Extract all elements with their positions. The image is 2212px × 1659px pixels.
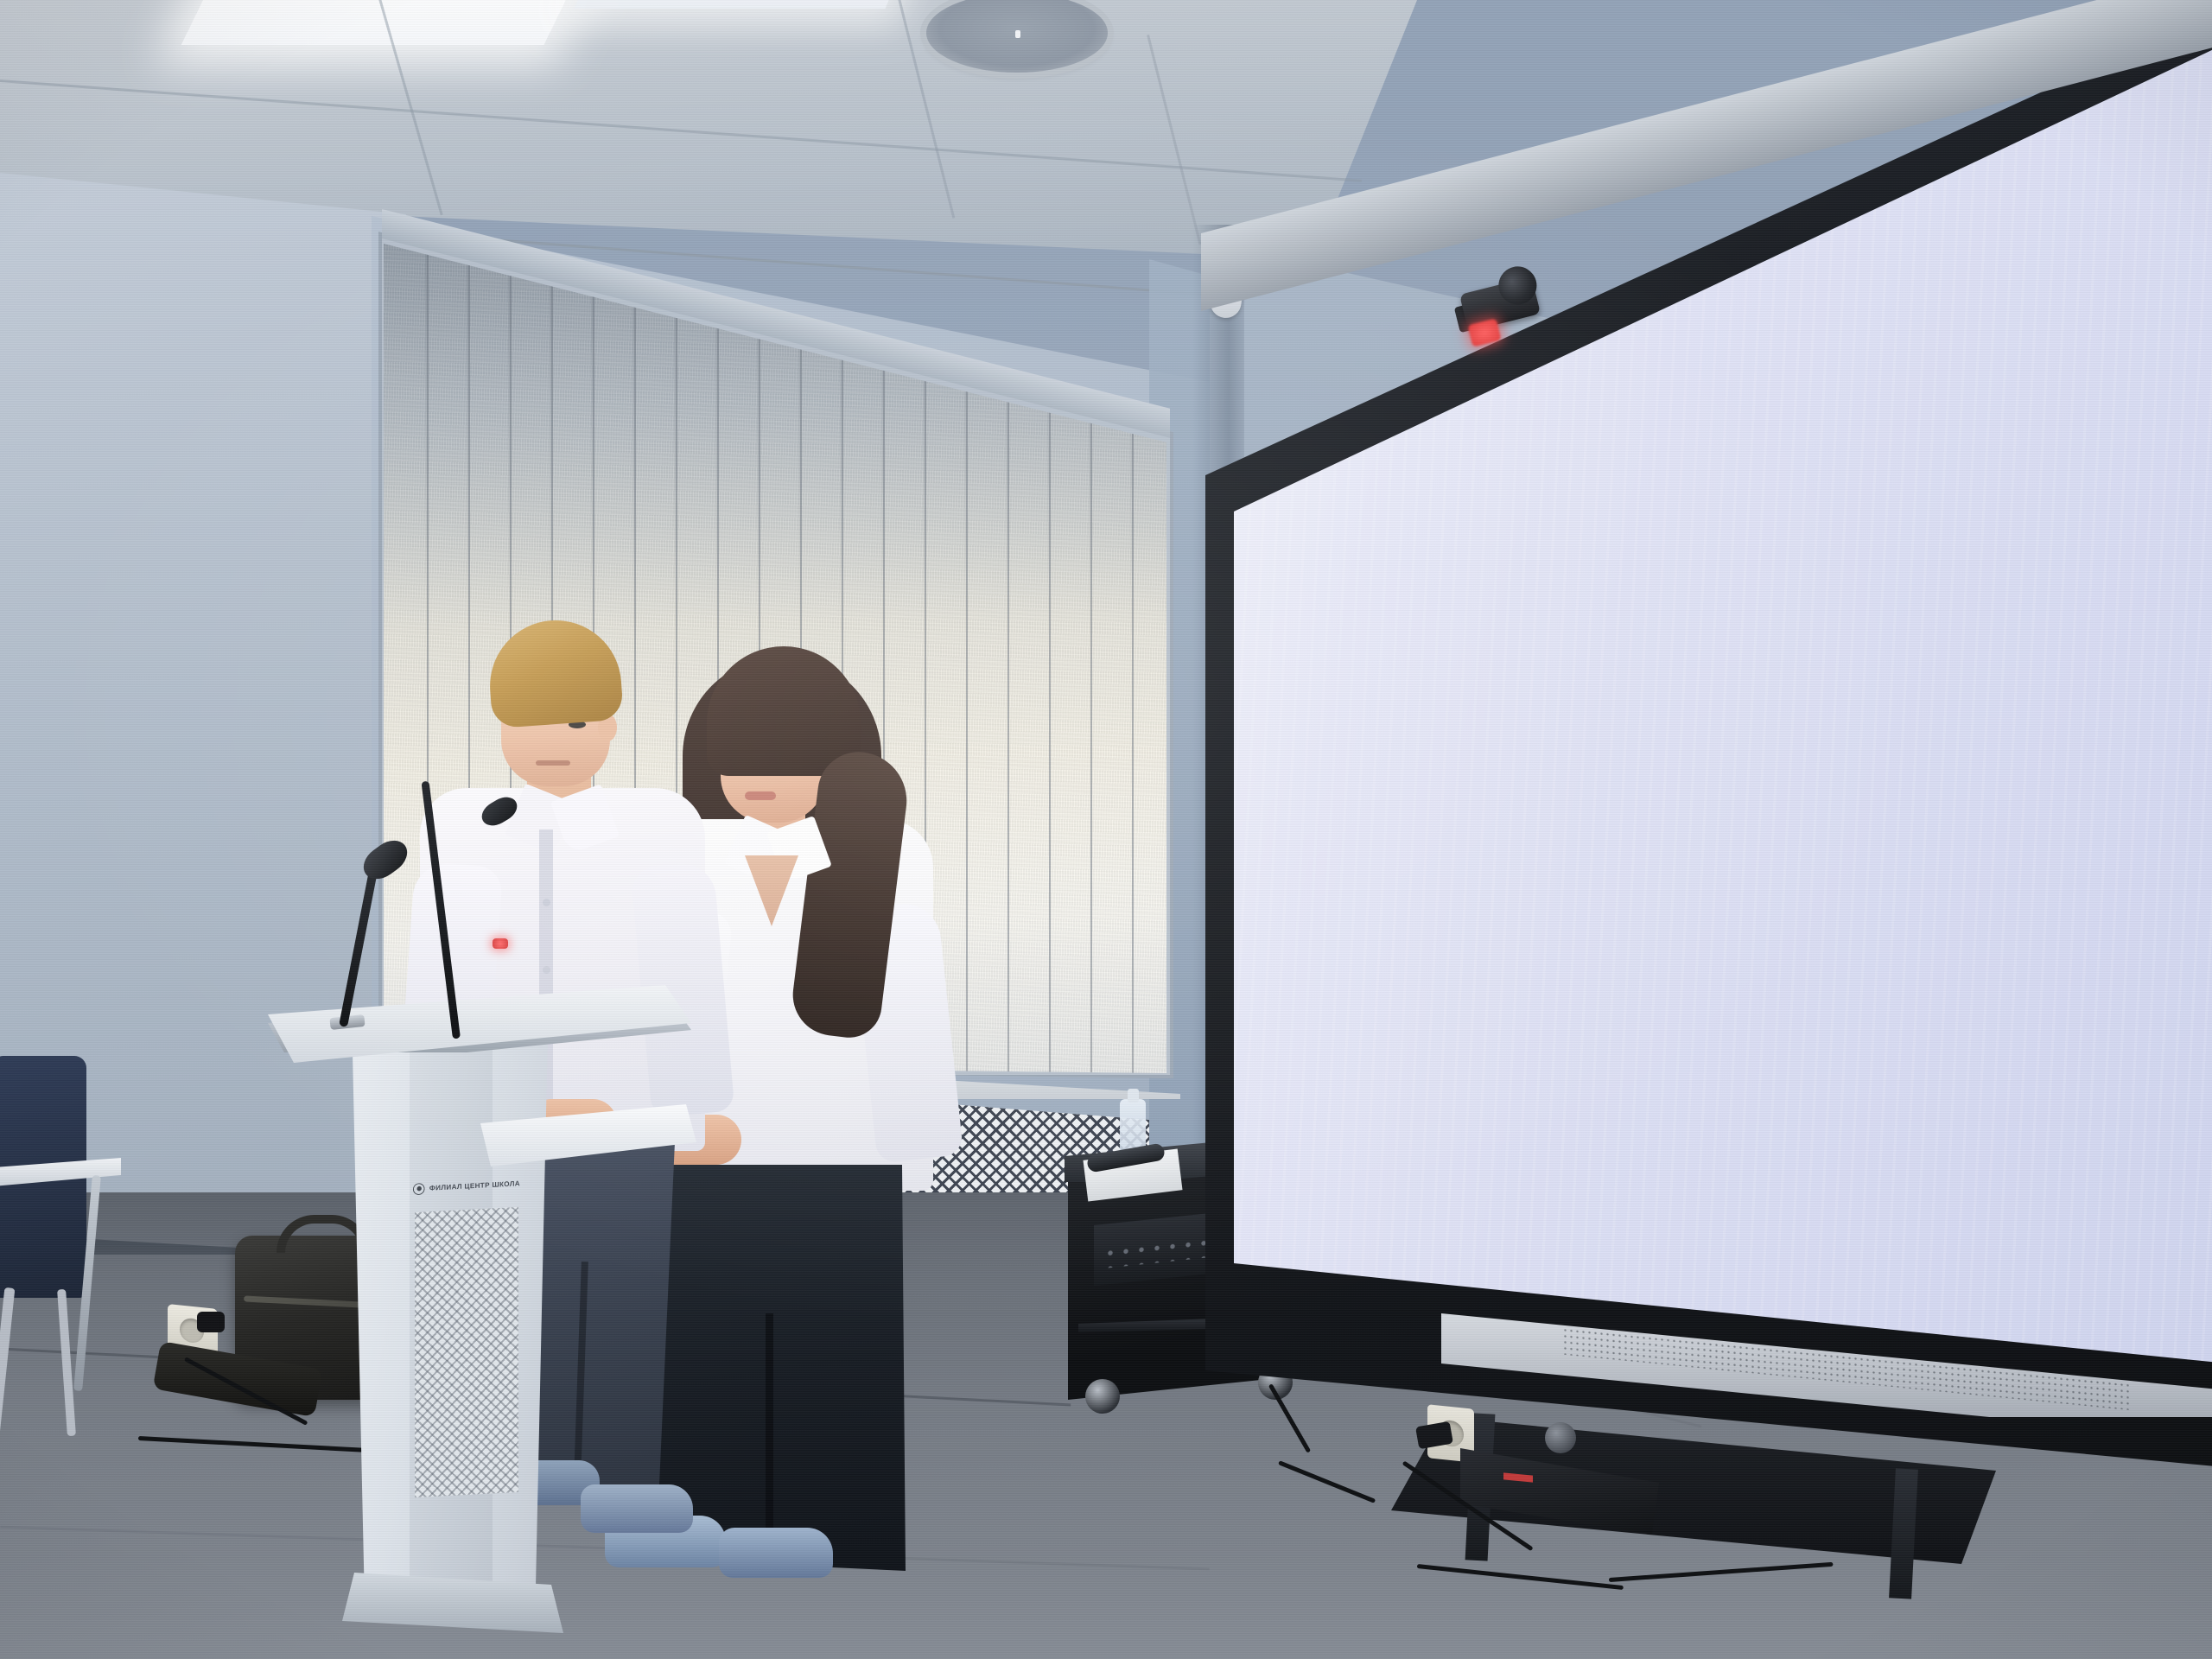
- cart-caster: [1085, 1379, 1120, 1414]
- microphone-led: [493, 938, 508, 949]
- shoe: [719, 1528, 833, 1578]
- lectern-logo-text: ФИЛИАЛ ЦЕНТР ШКОЛА: [429, 1179, 520, 1192]
- shoe: [581, 1484, 693, 1533]
- lectern-speaker-mesh: [415, 1207, 518, 1497]
- shirt-button: [543, 966, 550, 974]
- ceiling-light-panel-secondary: [574, 0, 912, 9]
- blind-slat: [1089, 219, 1134, 1075]
- lips: [745, 791, 776, 800]
- shirt-button: [543, 899, 550, 906]
- av-unit-knob[interactable]: [1545, 1422, 1576, 1453]
- blind-slat: [1047, 219, 1092, 1075]
- logo-mark-icon: [413, 1183, 425, 1195]
- mouth: [536, 760, 570, 766]
- power-plug: [197, 1312, 225, 1332]
- presentation-room-photo: ФИЛИАЛ ЦЕНТР ШКОЛА: [0, 0, 2212, 1659]
